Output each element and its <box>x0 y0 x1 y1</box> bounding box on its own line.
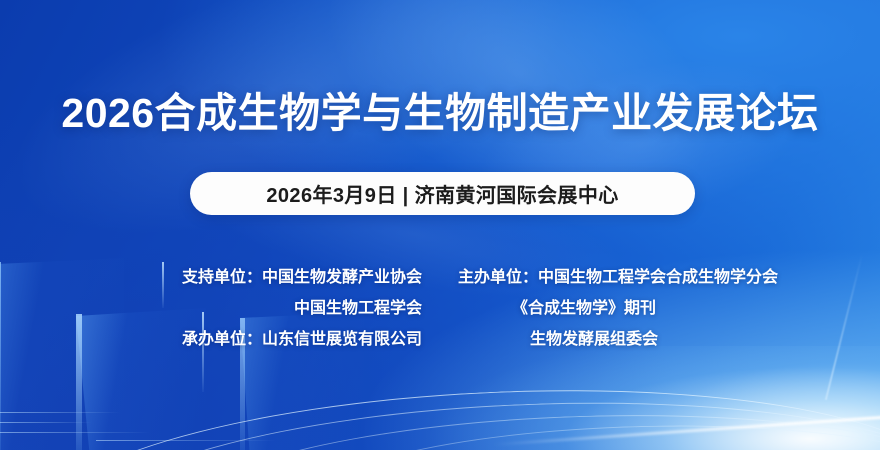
credit-line: 生物发酵展组委会 <box>458 324 788 355</box>
credits-section: 支持单位：中国生物发酵产业协会 中国生物工程学会 承办单位：山东信世展览有限公司… <box>0 262 880 362</box>
credit-line: 中国生物工程学会 <box>120 293 422 324</box>
credit-line: 支持单位：中国生物发酵产业协会 <box>120 262 422 293</box>
credit-line: 《合成生物学》期刊 <box>458 293 788 324</box>
event-banner: 2026合成生物学与生物制造产业发展论坛 2026年3月9日 | 济南黄河国际会… <box>0 0 880 450</box>
credits-right-column: 主办单位：中国生物工程学会合成生物学分会 《合成生物学》期刊 生物发酵展组委会 <box>458 262 788 355</box>
banner-content: 2026合成生物学与生物制造产业发展论坛 2026年3月9日 | 济南黄河国际会… <box>0 0 880 450</box>
credits-left-column: 支持单位：中国生物发酵产业协会 中国生物工程学会 承办单位：山东信世展览有限公司 <box>120 262 422 355</box>
credit-line: 主办单位：中国生物工程学会合成生物学分会 <box>458 262 788 293</box>
date-venue-pill: 2026年3月9日 | 济南黄河国际会展中心 <box>190 172 695 215</box>
date-venue-text: 2026年3月9日 | 济南黄河国际会展中心 <box>266 179 618 208</box>
credit-line: 承办单位：山东信世展览有限公司 <box>120 324 422 355</box>
banner-title: 2026合成生物学与生物制造产业发展论坛 <box>0 88 880 138</box>
